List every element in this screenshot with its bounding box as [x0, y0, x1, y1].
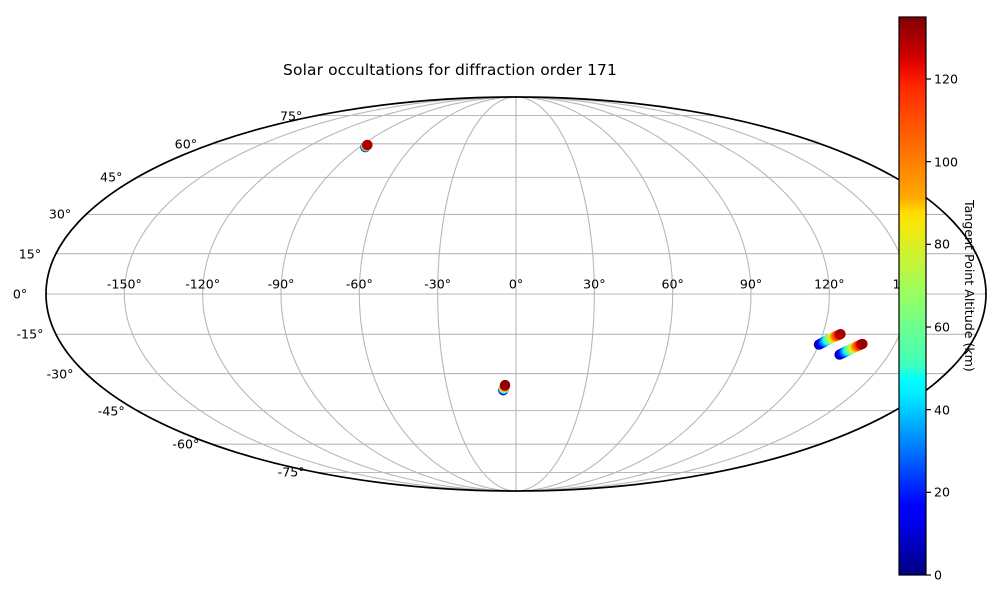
colorbar-tick-80: 80 — [934, 237, 950, 252]
colorbar-tick-0: 0 — [934, 568, 942, 583]
colorbar — [0, 0, 1000, 600]
figure-canvas: Solar occultations for diffraction order… — [0, 0, 1000, 600]
colorbar-axis-label: Tangent Point Altitude (km) — [962, 200, 977, 372]
colorbar-tick-40: 40 — [934, 402, 950, 417]
colorbar-tick-20: 20 — [934, 485, 950, 500]
colorbar-tick-120: 120 — [934, 72, 958, 87]
colorbar-tick-60: 60 — [934, 320, 950, 335]
colorbar-tick-100: 100 — [934, 154, 958, 169]
